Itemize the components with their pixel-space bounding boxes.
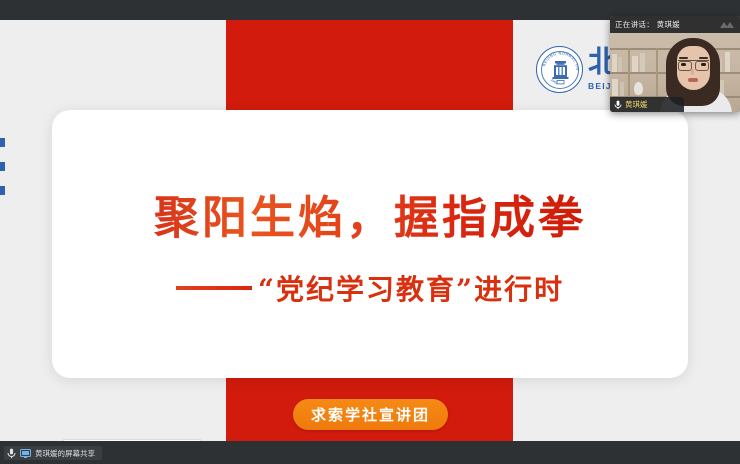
nose [691, 69, 694, 75]
university-logo: BEIJING NORMAL UNIVERSITY 1902 [536, 46, 617, 93]
speaking-label: 正在讲话： 黄琪媛 [615, 19, 680, 30]
collapse-chevron-icon[interactable] [719, 20, 735, 30]
participant-name: 黄琪媛 [625, 99, 648, 110]
book [632, 56, 638, 72]
slide-subtitle-text: “党纪学习教育”进行时 [258, 268, 564, 308]
taskbar-screenshare-item[interactable]: 黄琪媛的屏幕共享 [4, 446, 102, 460]
decorative-blue-marks-icon [0, 138, 6, 208]
book [618, 57, 622, 72]
microphone-icon [7, 448, 16, 459]
mouth [688, 78, 698, 82]
subtitle-dash-icon [176, 286, 252, 290]
bnu-seal-icon: BEIJING NORMAL UNIVERSITY 1902 [536, 46, 583, 93]
monitor-share-icon [20, 449, 31, 458]
meeting-window: BEIJING NORMAL UNIVERSITY 1902 [0, 0, 740, 464]
slide-title: 聚阳生焰，握指成拳 [154, 181, 586, 246]
taskbar-item-label: 黄琪媛的屏幕共享 [35, 448, 95, 459]
slide-group-badge: 求索学社宣讲团 [293, 399, 448, 430]
slide-subtitle: “党纪学习教育”进行时 [176, 268, 564, 308]
book [612, 79, 618, 96]
book [612, 54, 617, 72]
video-speaking-bar: 正在讲话： 黄琪媛 [610, 16, 740, 33]
shelf-divider [628, 48, 630, 96]
eyebrow [679, 57, 688, 59]
window-bottom-bar [0, 441, 740, 464]
microphone-icon [614, 100, 622, 110]
video-name-bar: 黄琪媛 [610, 97, 684, 112]
book [620, 82, 624, 96]
glasses [678, 60, 709, 68]
slide-card: 聚阳生焰，握指成拳 “党纪学习教育”进行时 [52, 110, 688, 378]
vase-decor [634, 82, 643, 95]
eyebrow [699, 57, 708, 59]
self-view-video-panel[interactable]: 正在讲话： 黄琪媛 黄琪媛 [610, 16, 740, 112]
book [640, 53, 645, 72]
